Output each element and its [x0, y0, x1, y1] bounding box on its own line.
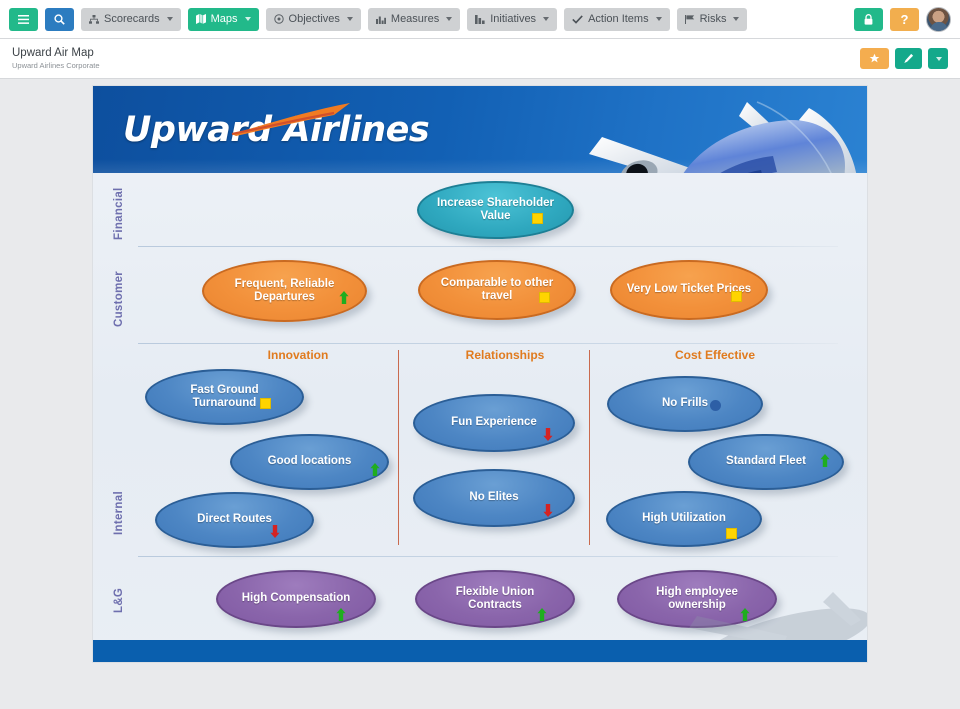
nav-item-label: Risks — [700, 13, 727, 25]
theme-header-cost: Cost Effective — [615, 348, 815, 362]
map-banner: Upward Airlines — [93, 86, 868, 173]
star-icon — [869, 53, 880, 64]
nav-item-initiatives[interactable]: Initiatives — [467, 8, 557, 31]
page-subtitle: Upward Airlines Corporate — [12, 61, 100, 71]
status-badge-yellow-square — [260, 398, 271, 409]
nav-item-label: Maps — [211, 13, 238, 25]
objective-node[interactable]: Direct Routes — [155, 492, 314, 548]
objective-label: No Elites — [455, 491, 532, 504]
chevron-down-icon — [733, 17, 739, 21]
avatar[interactable] — [926, 7, 951, 32]
objective-label: High Utilization — [628, 512, 740, 525]
page-title: Upward Air Map — [12, 46, 100, 60]
status-badge-red-down-arrow — [543, 504, 553, 517]
objective-label: Flexible Union Contracts — [417, 586, 573, 613]
page-title-block: Upward Air Map Upward Airlines Corporate — [12, 46, 100, 70]
nav-item-label: Action Items — [588, 13, 649, 25]
objective-label: High employee ownership — [619, 586, 775, 613]
status-badge-red-down-arrow — [543, 428, 553, 441]
nav-item-risks[interactable]: Risks — [677, 8, 748, 31]
objective-node[interactable]: High Utilization — [606, 491, 762, 547]
objective-node[interactable]: Standard Fleet — [688, 434, 844, 490]
status-badge-green-up-arrow — [740, 608, 750, 621]
target-icon — [274, 14, 284, 24]
nav-item-label: Measures — [391, 13, 439, 25]
status-badge-blue-dot — [710, 400, 721, 411]
search-icon — [54, 14, 65, 25]
nav-item-measures[interactable]: Measures — [368, 8, 460, 31]
objective-node[interactable]: No Frills — [607, 376, 763, 432]
chevron-down-icon — [446, 17, 452, 21]
objective-label: High Compensation — [228, 592, 365, 605]
nav-item-maps[interactable]: Maps — [188, 8, 259, 31]
chevron-down-icon — [167, 17, 173, 21]
hamburger-icon — [18, 15, 29, 24]
map-canvas: Upward Airlines — [0, 79, 960, 708]
objective-node[interactable]: Increase Shareholder Value — [417, 181, 574, 239]
status-badge-yellow-square — [726, 528, 737, 539]
theme-header-relationships: Relationships — [405, 348, 605, 362]
chart-icon — [475, 15, 485, 24]
perspective-label-customer: Customer — [113, 261, 125, 336]
theme-header-innovation: Innovation — [198, 348, 398, 362]
objective-node[interactable]: Fun Experience — [413, 394, 575, 452]
objective-node[interactable]: Very Low Ticket Prices — [610, 260, 768, 320]
objective-label: Increase Shareholder Value — [419, 197, 572, 224]
objective-node[interactable]: Good locations — [230, 434, 389, 490]
perspective-label-internal: Internal — [113, 476, 125, 551]
map-icon — [196, 14, 206, 24]
help-label: ? — [901, 12, 909, 27]
header-actions — [860, 48, 948, 69]
nav-item-label: Scorecards — [104, 13, 160, 25]
status-badge-green-up-arrow — [820, 454, 830, 467]
top-navbar: Scorecards Maps Objectives Measures Init… — [0, 0, 960, 39]
brand-logo: Upward Airlines — [123, 110, 429, 150]
lock-icon — [864, 14, 873, 25]
menu-button[interactable] — [9, 8, 38, 31]
airplane-photo — [577, 86, 868, 173]
status-badge-yellow-square — [532, 213, 543, 224]
chevron-down-icon — [656, 17, 662, 21]
objective-label: Standard Fleet — [712, 455, 820, 468]
bar-chart-icon — [376, 15, 386, 24]
edit-dropdown-button[interactable] — [928, 48, 948, 69]
objective-node[interactable]: Fast Ground Turnaround — [145, 369, 304, 425]
nav-item-objectives[interactable]: Objectives — [266, 8, 361, 31]
pencil-icon — [903, 53, 914, 64]
page-header: Upward Air Map Upward Airlines Corporate — [0, 39, 960, 79]
row-divider-internal — [138, 556, 838, 557]
row-divider-customer — [138, 343, 838, 344]
objective-node[interactable]: No Elites — [413, 469, 575, 527]
check-icon — [572, 15, 583, 24]
lock-button[interactable] — [854, 8, 883, 31]
favorite-button[interactable] — [860, 48, 889, 69]
theme-divider-right — [589, 350, 590, 545]
status-badge-yellow-square — [731, 291, 742, 302]
nav-item-scorecards[interactable]: Scorecards — [81, 8, 181, 31]
sitemap-icon — [89, 15, 99, 24]
row-divider-financial — [138, 246, 838, 247]
edit-button[interactable] — [895, 48, 922, 69]
status-badge-green-up-arrow — [537, 608, 547, 621]
strategy-map: Upward Airlines — [92, 85, 868, 663]
chevron-down-icon — [245, 17, 251, 21]
objective-label: Comparable to other travel — [420, 277, 574, 304]
nav-item-label: Objectives — [289, 13, 340, 25]
search-button[interactable] — [45, 8, 74, 31]
perspective-label-financial: Financial — [113, 176, 125, 251]
objective-node[interactable]: Comparable to other travel — [418, 260, 576, 320]
theme-divider-left — [398, 350, 399, 545]
status-badge-yellow-square — [539, 292, 550, 303]
chevron-down-icon — [543, 17, 549, 21]
objective-node[interactable]: High Compensation — [216, 570, 376, 628]
map-footer-bar — [93, 640, 868, 662]
status-badge-green-up-arrow — [370, 463, 380, 476]
objective-label: Good locations — [254, 455, 366, 468]
flag-icon — [685, 15, 695, 24]
status-badge-red-down-arrow — [270, 525, 280, 538]
chevron-down-icon — [347, 17, 353, 21]
objective-node[interactable]: High employee ownership — [617, 570, 777, 628]
objective-node[interactable]: Frequent, Reliable Departures — [202, 260, 367, 322]
objective-label: Fun Experience — [437, 416, 551, 429]
perspective-label-lg: L&G — [113, 576, 125, 624]
objective-label: Fast Ground Turnaround — [147, 384, 302, 411]
chevron-down-icon — [936, 57, 942, 61]
objective-node[interactable]: Flexible Union Contracts — [415, 570, 575, 628]
nav-item-action-items[interactable]: Action Items — [564, 8, 670, 31]
nav-item-label: Initiatives — [490, 13, 536, 25]
status-badge-green-up-arrow — [339, 291, 349, 304]
objective-label: Very Low Ticket Prices — [613, 283, 765, 296]
help-button[interactable]: ? — [890, 8, 919, 31]
status-badge-green-up-arrow — [336, 608, 346, 621]
